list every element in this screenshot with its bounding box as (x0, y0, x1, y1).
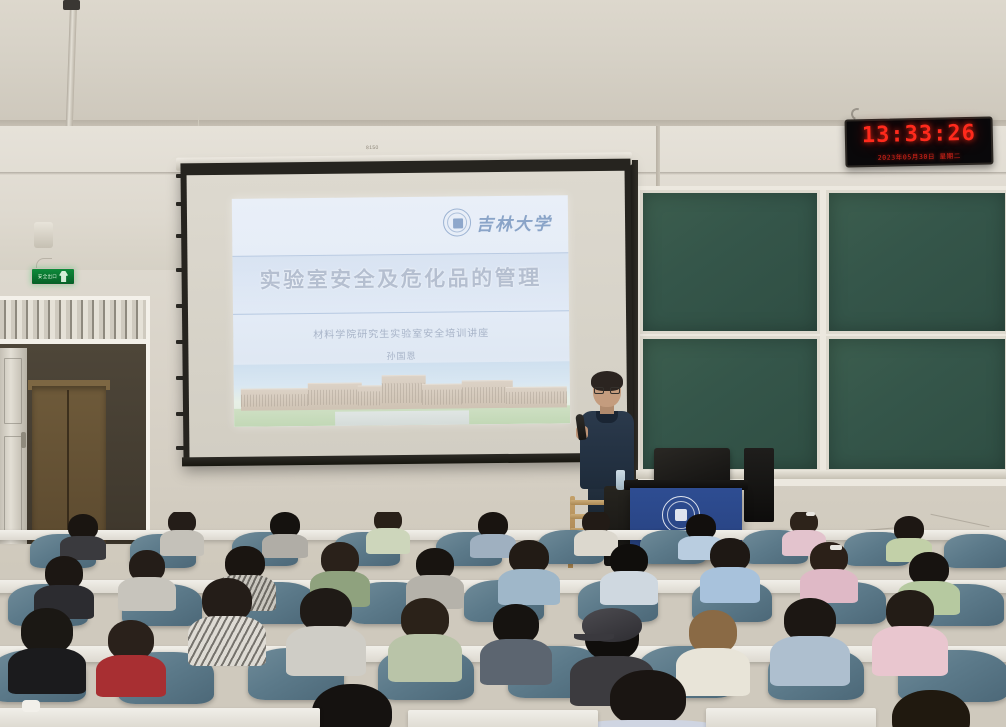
cap-brim (574, 634, 614, 641)
audience-person (480, 604, 552, 678)
audience-person (160, 512, 204, 550)
door-handle[interactable] (21, 432, 26, 448)
projection-screen: 吉林大学 实验室安全及危化品的管理 材料学院研究生实验室安全培训讲座 孙国恩 2… (180, 159, 633, 466)
audience-person (886, 516, 932, 556)
clock-time-display: 13:33:26 (862, 122, 976, 146)
desktop-tower (744, 448, 774, 522)
clock-date-display: 2023年05月30日 星期二 (878, 150, 961, 162)
desk-foreground-mid (408, 710, 598, 727)
slide-title: 实验室安全及危化品的管理 (232, 261, 568, 295)
audience-person (366, 512, 410, 548)
door-panel-upper (4, 358, 22, 424)
audience-person (406, 548, 464, 600)
audience-person (872, 590, 948, 668)
screen-case-label: 8150 (366, 145, 379, 151)
projected-slide: 吉林大学 实验室安全及危化品的管理 材料学院研究生实验室安全培训讲座 孙国恩 2… (232, 195, 570, 427)
audience-person (60, 514, 106, 554)
audience-person (8, 608, 86, 682)
audience-person (388, 598, 462, 674)
audience-area (0, 512, 1006, 727)
photo-building-left-block (308, 382, 362, 410)
chalkboard-top-right (826, 190, 1006, 334)
wall-speaker-box (34, 222, 53, 248)
transom-window (0, 300, 146, 344)
eyeglasses-icon (594, 387, 620, 394)
exit-sign-label: 安全出口 (38, 274, 57, 280)
audience-person (800, 542, 858, 594)
desk-foreground-right (706, 708, 876, 727)
audience-person (96, 620, 166, 690)
audience-person (286, 588, 366, 666)
slide-campus-photo (234, 361, 571, 427)
audience-person (34, 556, 94, 608)
chalkboard-bottom-right (826, 336, 1006, 472)
university-logo: 吉林大学 (443, 207, 552, 236)
emergency-exit-sign: 安全出口 (31, 268, 75, 285)
running-person-exit-icon (59, 271, 68, 282)
lecture-hall-photo: 安全出口 13:33:26 2023年05月30日 星期二 8150 (0, 0, 1006, 727)
desk-foreground-left (0, 708, 320, 727)
audience-person (700, 538, 760, 592)
photo-building-center-tower (381, 375, 425, 409)
foreground-person (590, 670, 706, 727)
photo-building-left-wing (241, 388, 315, 411)
chalkboard-top-left (640, 190, 820, 334)
slide-subtitle: 材料学院研究生实验室安全培训讲座 (233, 323, 569, 342)
conduit-junction-box (63, 0, 80, 10)
photo-plaza (335, 410, 470, 425)
university-seal-icon (443, 208, 471, 236)
audience-person (498, 540, 560, 594)
university-name: 吉林大学 (476, 209, 552, 235)
photo-building-right-wing (506, 386, 567, 408)
audience-person (118, 550, 176, 602)
digital-wall-clock: 13:33:26 2023年05月30日 星期二 (845, 116, 994, 167)
audience-person (770, 598, 850, 676)
small-white-object (22, 700, 40, 712)
audience-person (188, 578, 266, 656)
foreground-person (870, 690, 988, 727)
audience-person (600, 544, 658, 596)
